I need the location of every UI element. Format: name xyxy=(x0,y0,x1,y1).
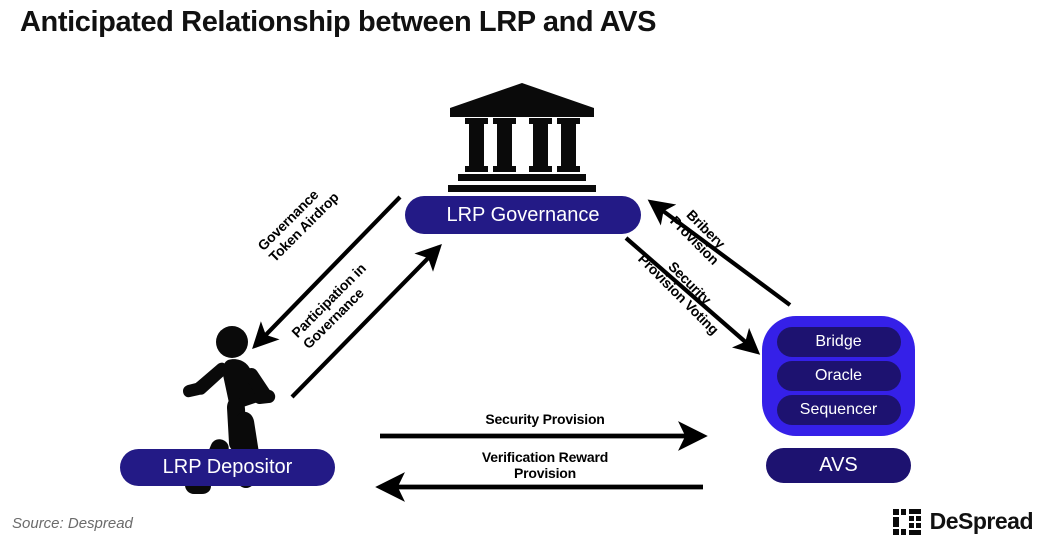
avs-item-bridge-label: Bridge xyxy=(815,333,861,351)
avs-item-oracle-label: Oracle xyxy=(815,367,862,385)
source-caption: Source: Despread xyxy=(12,515,133,532)
avs-item-sequencer-label: Sequencer xyxy=(800,401,877,419)
node-avs-label: AVS xyxy=(819,454,858,477)
edge-label-line-1: Security Provision xyxy=(390,412,700,428)
avs-item-sequencer[interactable]: Sequencer xyxy=(777,395,901,425)
node-lrp-governance[interactable]: LRP Governance xyxy=(405,196,641,234)
despread-logo-mark xyxy=(893,509,921,535)
edge-label-verification-reward-provision: Verification Reward Provision xyxy=(390,450,700,481)
node-lrp-depositor[interactable]: LRP Depositor xyxy=(120,449,335,486)
avs-item-bridge[interactable]: Bridge xyxy=(777,327,901,357)
despread-logo-text: DeSpread xyxy=(930,508,1033,535)
avs-service-cluster: Bridge Oracle Sequencer xyxy=(762,316,915,436)
despread-logo: DeSpread xyxy=(893,508,1033,535)
node-lrp-depositor-label: LRP Depositor xyxy=(163,456,293,479)
edge-label-line-2: Provision xyxy=(390,466,700,482)
node-lrp-governance-label: LRP Governance xyxy=(446,204,599,227)
avs-item-oracle[interactable]: Oracle xyxy=(777,361,901,391)
edge-label-security-provision: Security Provision xyxy=(390,412,700,428)
diagram-page: Anticipated Relationship between LRP and… xyxy=(0,0,1047,555)
node-avs[interactable]: AVS xyxy=(766,448,911,483)
bank-institution-icon xyxy=(448,83,596,192)
edge-label-line-1: Verification Reward xyxy=(390,450,700,466)
